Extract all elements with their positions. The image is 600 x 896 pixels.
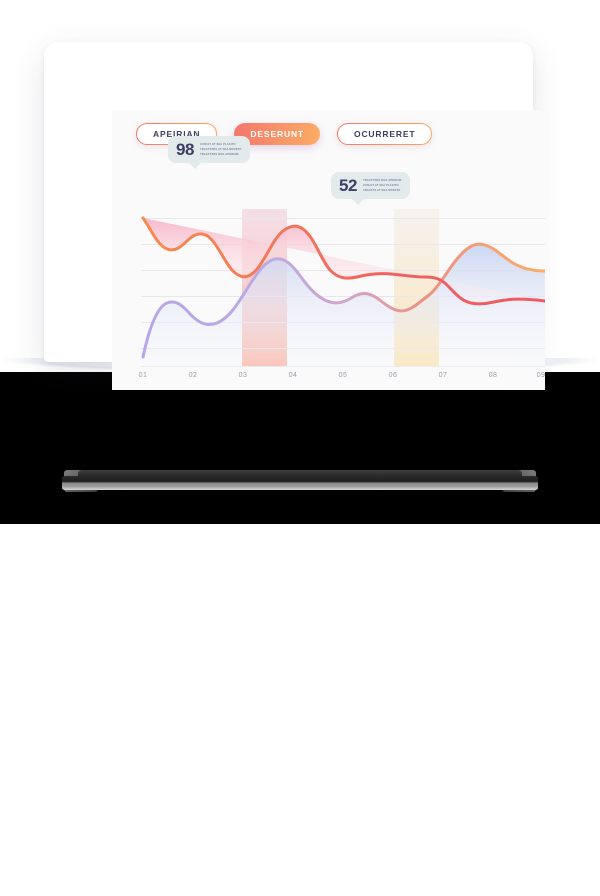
x-tick-09: 09 <box>537 372 545 379</box>
legend-pill-ocurreret-label: OCURRERET <box>354 129 416 139</box>
legend-pill-deserunt-label: DESERUNT <box>250 129 304 139</box>
tooltip-98-line-3: TRACTATOS DUO APERIAM <box>200 153 241 156</box>
x-tick-04: 04 <box>289 372 298 379</box>
tooltip-98-arrow-icon <box>188 162 202 169</box>
x-tick-06: 06 <box>389 372 398 379</box>
tooltip-52-text: TRACTATOS DUO APERIAM CUM ET AT SEA PLAC… <box>363 179 401 192</box>
x-tick-07: 07 <box>439 372 448 379</box>
x-axis: 01 02 03 04 05 06 07 08 09 <box>141 372 545 386</box>
tooltip-52-arrow-icon <box>351 198 365 205</box>
tooltip-98-text: CUM ET AT SEA PLACITO TRACTATOS AT SEA M… <box>200 143 241 156</box>
legend-pill-ocurreret[interactable]: OCURRERET <box>337 123 433 145</box>
reflection-glow <box>60 858 540 896</box>
tooltip-52-line-3: TRACTAT AT SEA MOVETO <box>363 189 401 192</box>
tooltip-98-line-1: CUM ET AT SEA PLACITO <box>200 143 241 146</box>
reflection-deck <box>62 476 538 490</box>
chart-tooltip-52[interactable]: 52 TRACTATOS DUO APERIAM CUM ET AT SEA P… <box>331 172 410 199</box>
laptop-reflection <box>0 372 600 524</box>
laptop-mockup: APEIRIAN DESERUNT OCURRERET <box>0 0 600 524</box>
x-tick-05: 05 <box>339 372 348 379</box>
x-tick-08: 08 <box>489 372 498 379</box>
laptop-screen-frame: APEIRIAN DESERUNT OCURRERET <box>44 42 533 362</box>
x-tick-01: 01 <box>139 372 148 379</box>
tooltip-98-value: 98 <box>176 141 194 158</box>
chart-svg <box>141 209 545 367</box>
plot-area <box>141 209 545 367</box>
tooltip-52-value: 52 <box>339 177 357 194</box>
tooltip-52-line-1: TRACTATOS DUO APERIAM <box>363 179 401 182</box>
x-tick-02: 02 <box>189 372 198 379</box>
x-tick-03: 03 <box>239 372 248 379</box>
tooltip-52-line-2: CUM ET AT SEA PLACITO <box>363 184 401 187</box>
tooltip-98-line-2: TRACTATOS AT SEA MOVETO <box>200 148 241 151</box>
chart-tooltip-98[interactable]: 98 CUM ET AT SEA PLACITO TRACTATOS AT SE… <box>168 136 250 163</box>
